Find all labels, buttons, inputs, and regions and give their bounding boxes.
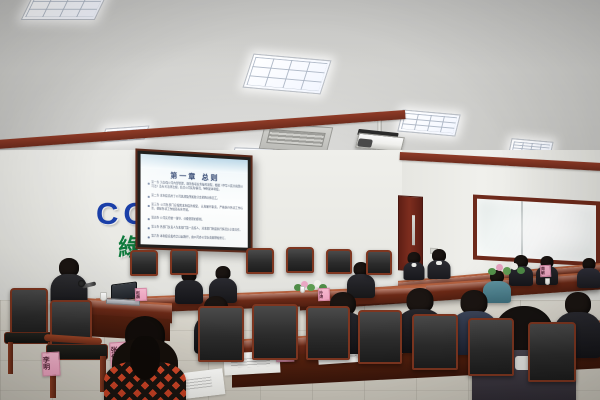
slide-bullet-text: 第四条 公司实行统一领导、分级管理的原则。 [151, 216, 243, 224]
chair-front-6[interactable] [468, 318, 514, 376]
attendee-far-1 [404, 252, 424, 278]
attendee-far-2 [428, 249, 450, 277]
chair-empty-1[interactable] [10, 288, 48, 338]
bullet-dot-icon [148, 205, 150, 207]
recessed-grille-light-1 [21, 0, 110, 20]
chair-front-7[interactable] [528, 322, 576, 382]
chair-row-a-4[interactable] [286, 247, 314, 273]
chair-front-5[interactable] [412, 314, 458, 370]
slide-bullet: 第三条 公司各部门应按照本制度的规定，认真履行职责，严格执行各项工作标准，确保各… [148, 203, 243, 215]
chair-empty-1-leg [8, 342, 13, 374]
ponytail [130, 336, 160, 380]
slide-bullet-text: 第三条 公司各部门应按照本制度的规定，认真履行职责，严格执行各项工作标准，确保各… [151, 203, 243, 215]
attendee-far-5 [578, 258, 600, 286]
recessed-grille-light-2 [242, 54, 331, 95]
paper-cup [545, 278, 550, 285]
bullet-dot-icon [148, 196, 150, 198]
bullet-dot-icon [148, 236, 150, 238]
torso [577, 268, 600, 288]
projector-lens [357, 138, 373, 147]
attendee-mid-2 [210, 266, 236, 300]
chair-row-a-3[interactable] [246, 248, 274, 274]
name-placard: 赵 磊 [135, 288, 147, 301]
slide-bullet-text: 第五条 各部门负责人为本部门第一责任人，对本部门制度执行情况负全面责任。 [151, 225, 243, 232]
slide-body: 第一条 为加强公司内部管理，规范各项业务操作流程，根据《中华人民共和国公司法》及… [148, 181, 243, 242]
name-placard: 周 敏 [540, 265, 552, 278]
projection-screen: 第一章 总则 第一条 为加强公司内部管理，规范各项业务操作流程，根据《中华人民共… [135, 148, 252, 252]
slide-bullet: 第六条 本制度自发布之日起施行，由公司办公室负责解释和修订。 [148, 234, 243, 241]
bullet-dot-icon [148, 227, 150, 229]
chair-row-a-6[interactable] [366, 250, 392, 275]
microphone-head [78, 280, 85, 287]
door-vision-slit [412, 215, 415, 245]
slide-bullet-text: 第二条 本制度适用于公司总部及所属各分支机构全体员工。 [151, 194, 243, 202]
shirt-collar [436, 261, 442, 265]
chair-front-3[interactable] [306, 306, 350, 360]
attendee-foreground-woman [108, 316, 182, 400]
bullet-dot-icon [148, 183, 150, 185]
chair-front-2[interactable] [252, 304, 298, 360]
paper-cup [100, 292, 107, 301]
chair-row-a-1[interactable] [130, 250, 158, 276]
slide-bullet: 第四条 公司实行统一领导、分级管理的原则。 [148, 216, 243, 224]
slide-bullet: 第二条 本制度适用于公司总部及所属各分支机构全体员工。 [148, 194, 243, 202]
chair-row-a-5[interactable] [326, 249, 352, 274]
shirt-collar [412, 263, 417, 267]
projection-screen-surface: 第一章 总则 第一条 为加强公司内部管理，规范各项业务操作流程，根据《中华人民共… [141, 154, 248, 248]
table-flower-arrangement [488, 262, 526, 278]
bullet-dot-icon [148, 218, 150, 220]
slide-bullet: 第五条 各部门负责人为本部门第一责任人，对本部门制度执行情况负全面责任。 [148, 225, 243, 233]
chair-row-a-2[interactable] [170, 249, 198, 275]
slide-bullet-text: 第六条 本制度自发布之日起施行，由公司办公室负责解释和修订。 [151, 235, 243, 242]
name-placard: 李 明 [41, 352, 60, 377]
conference-room-photo: CO RE 綠 業 第一章 总则 第一条 为加强公司内部管理，规范各项业务操作流… [0, 0, 600, 400]
chair-front-1[interactable] [198, 306, 244, 362]
chair-front-4[interactable] [358, 310, 402, 364]
paper-cup [300, 286, 305, 293]
